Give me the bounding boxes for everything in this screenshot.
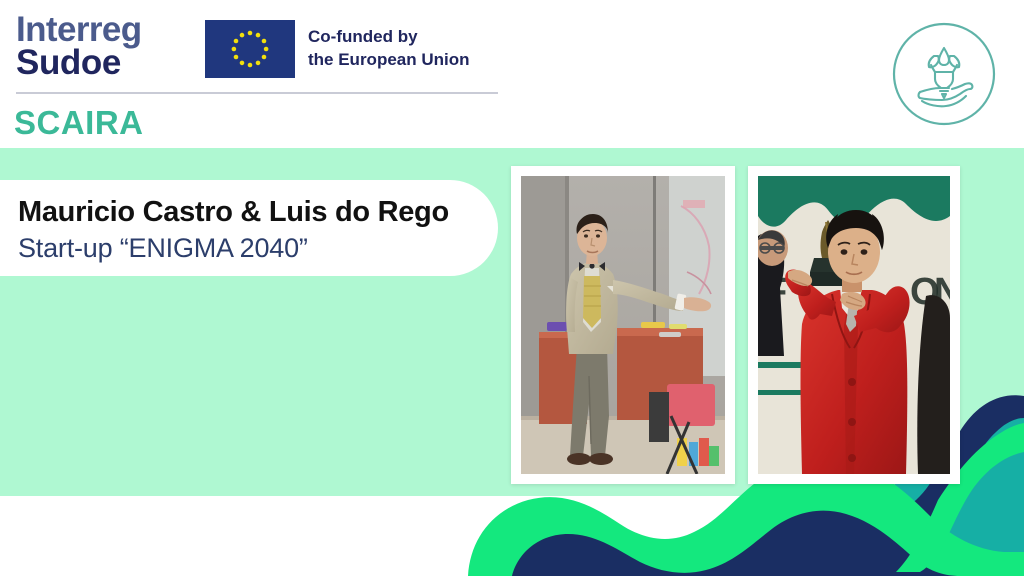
photo-frame-right: F O N	[748, 166, 960, 484]
slide-header: Interreg Sudoe	[0, 0, 1024, 148]
presentation-slide: Interreg Sudoe	[0, 0, 1024, 576]
photo-man-in-red-jacket-with-trophy: F O N	[758, 176, 950, 474]
hand-holding-lightbulb-leaf-icon	[890, 20, 998, 128]
eu-funding-line-1: Co-funded by	[308, 26, 470, 49]
photo-man-in-tan-suit-pointing	[521, 176, 725, 474]
photo-frame-left	[511, 166, 735, 484]
wave-navy-shape	[512, 511, 960, 576]
interreg-sudoe-logo: Interreg Sudoe	[16, 14, 188, 88]
project-name-scaira: SCAIRA	[14, 104, 144, 142]
sudoe-wordmark: Sudoe	[16, 47, 188, 80]
title-panel: Mauricio Castro & Luis do Rego Start-up …	[0, 180, 498, 276]
speaker-names: Mauricio Castro & Luis do Rego	[18, 194, 468, 230]
startup-name: Start-up “ENIGMA 2040”	[18, 231, 468, 266]
eu-funding-statement: Co-funded by the European Union	[308, 26, 470, 72]
eu-funding-line-2: the European Union	[308, 49, 470, 72]
header-divider	[16, 92, 498, 94]
interreg-wordmark: Interreg	[16, 14, 188, 47]
eu-flag-icon	[205, 20, 295, 78]
